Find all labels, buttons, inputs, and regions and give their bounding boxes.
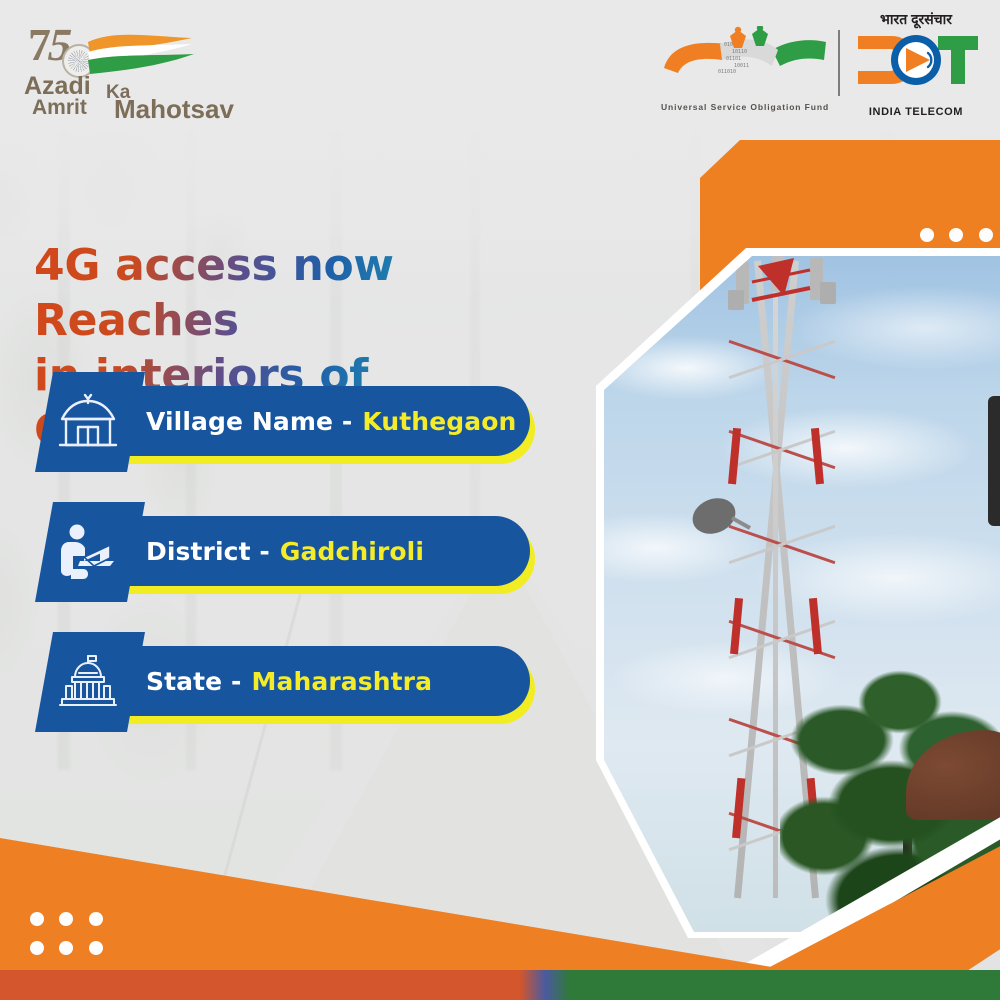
decor-dot bbox=[59, 941, 73, 955]
village-hut-icon bbox=[58, 393, 118, 451]
village-text: Village Name -Kuthegaon bbox=[146, 407, 516, 436]
tower-red-band bbox=[728, 428, 741, 484]
info-row-district: District -Gadchiroli bbox=[0, 502, 600, 632]
state-bar: State -Maharashtra bbox=[110, 646, 530, 716]
svg-text:011010: 011010 bbox=[718, 69, 736, 75]
village-label: Village Name - bbox=[146, 407, 352, 436]
village-icon-tab bbox=[35, 372, 145, 472]
decor-dot bbox=[59, 912, 73, 926]
info-rows: Village Name -Kuthegaon bbox=[0, 372, 600, 762]
decor-dot bbox=[979, 228, 993, 242]
state-label: State - bbox=[146, 667, 242, 696]
amrit-label: Amrit bbox=[32, 96, 87, 120]
village-bar-wrap: Village Name -Kuthegaon bbox=[110, 386, 535, 456]
usof-swoosh-icon: 0100110110 0110110011 011010 bbox=[660, 26, 830, 86]
usof-caption: Universal Service Obligation Fund bbox=[660, 102, 830, 112]
decor-dot bbox=[949, 228, 963, 242]
decor-dot bbox=[89, 941, 103, 955]
state-bar-wrap: State -Maharashtra bbox=[110, 646, 535, 716]
decor-dot bbox=[89, 912, 103, 926]
bottom-tricolour-strip bbox=[0, 970, 1000, 1000]
district-bar: District -Gadchiroli bbox=[110, 516, 530, 586]
info-row-village: Village Name -Kuthegaon bbox=[0, 372, 600, 502]
usof-logo: 0100110110 0110110011 011010 Universal S… bbox=[660, 22, 830, 114]
poster-canvas: 75 Azadi Ka Amrit Mahotsav 0100110110 01… bbox=[0, 0, 1000, 1000]
district-icon-tab bbox=[35, 502, 145, 602]
tricolour-flag-icon bbox=[86, 32, 196, 76]
village-bar: Village Name -Kuthegaon bbox=[110, 386, 530, 456]
state-text: State -Maharashtra bbox=[146, 667, 432, 696]
mahotsav-label: Mahotsav bbox=[114, 94, 234, 125]
person-at-laptop-icon bbox=[58, 523, 118, 581]
state-value: Maharashtra bbox=[252, 667, 433, 696]
decor-dot bbox=[920, 228, 934, 242]
village-value: Kuthegaon bbox=[362, 407, 516, 436]
telecom-tower-photo bbox=[596, 248, 1000, 938]
dot-india-telecom-logo: भारत दूरसंचार INDIA TELECOM bbox=[852, 10, 980, 118]
district-label: District - bbox=[146, 537, 270, 566]
tower-photo-frame bbox=[596, 248, 1000, 938]
svg-text:01101: 01101 bbox=[726, 56, 741, 62]
government-building-icon bbox=[57, 653, 119, 711]
tower-antenna-array-icon bbox=[724, 256, 844, 376]
district-text: District -Gadchiroli bbox=[146, 537, 424, 566]
dot-caption: INDIA TELECOM bbox=[852, 106, 980, 118]
svg-text:10011: 10011 bbox=[734, 63, 749, 69]
header-bar: 75 Azadi Ka Amrit Mahotsav 0100110110 01… bbox=[0, 0, 1000, 130]
district-value: Gadchiroli bbox=[280, 537, 424, 566]
svg-text:10110: 10110 bbox=[732, 49, 747, 55]
dot-hindi-label: भारत दूरसंचार bbox=[852, 10, 980, 29]
dot-wordmark-icon bbox=[852, 30, 980, 90]
info-row-state: State -Maharashtra bbox=[0, 632, 600, 762]
logo-divider bbox=[838, 30, 840, 96]
photo-dark-pole bbox=[988, 396, 1000, 526]
decor-dot bbox=[30, 912, 44, 926]
decor-dot bbox=[30, 941, 44, 955]
azadi-ka-amrit-mahotsav-logo: 75 Azadi Ka Amrit Mahotsav bbox=[18, 16, 198, 116]
state-icon-tab bbox=[35, 632, 145, 732]
microwave-dish-icon bbox=[688, 488, 758, 550]
district-bar-wrap: District -Gadchiroli bbox=[110, 516, 535, 586]
